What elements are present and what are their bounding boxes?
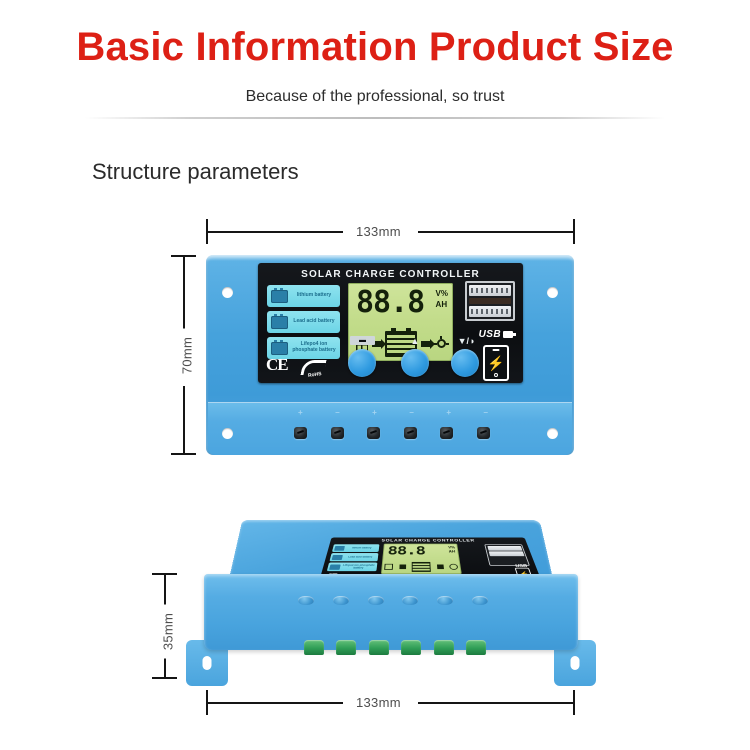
- lcd-units: V% AH: [448, 546, 456, 554]
- terminal-mark: +: [446, 408, 451, 417]
- battery-type-list: lithium battery Lead acid battery Lifepo…: [267, 285, 340, 363]
- angled-width-tick-left: [206, 690, 208, 715]
- front-height-line-bottom: [183, 386, 185, 454]
- front-height-tick-bottom: [171, 453, 196, 455]
- phone-charging-icon: ⚡: [483, 345, 509, 381]
- menu-button-icon: ▬: [350, 336, 375, 345]
- front-width-tick-right: [573, 219, 575, 244]
- terminal-mark: +: [372, 408, 377, 417]
- lcd-unit-bottom: AH: [436, 300, 448, 311]
- front-width-label: 133mm: [352, 224, 405, 239]
- mounting-hole-left: [222, 287, 233, 298]
- arrow-right-icon: [436, 564, 443, 569]
- mounting-hole: [203, 656, 212, 670]
- usb-port-bottom[interactable]: [469, 306, 511, 317]
- controller-front-view: SOLAR CHARGE CONTROLLER lithium battery …: [206, 255, 574, 455]
- battery-type-label: lithium battery: [288, 293, 340, 299]
- mounting-hole-bottom-left: [222, 428, 233, 439]
- ce-mark: CE: [266, 355, 288, 375]
- angled-width-line-right: [418, 702, 574, 704]
- section-heading: Structure parameters: [92, 159, 299, 185]
- down-light-button-icon: ▼/◑: [452, 336, 480, 345]
- menu-button[interactable]: [348, 349, 376, 377]
- terminal-screw[interactable]: [437, 596, 453, 605]
- usb-port-top[interactable]: [487, 546, 522, 551]
- controller-front-face: [204, 574, 578, 650]
- down-light-glyph: ▼/◑: [458, 336, 475, 346]
- mounting-hole-bottom-right: [547, 428, 558, 439]
- front-width-line-right: [418, 231, 574, 233]
- terminal-screw[interactable]: [472, 596, 488, 605]
- angled-width-label: 133mm: [352, 695, 405, 710]
- product-size-infographic: Basic Information Product Size Because o…: [0, 0, 750, 750]
- battery-type-label: lithium battery: [344, 547, 379, 549]
- front-width-tick-left: [206, 219, 208, 244]
- angled-width-tick-right: [573, 690, 575, 715]
- battery-type-label: Lead acid battery: [342, 556, 378, 558]
- mounting-hole-right: [547, 287, 558, 298]
- terminal-block[interactable]: [369, 640, 389, 655]
- front-width-line-left: [206, 231, 343, 233]
- lamp-icon: [434, 336, 449, 352]
- terminal-block[interactable]: [336, 640, 356, 655]
- terminal-screw[interactable]: [440, 427, 453, 439]
- terminal-markings: + – + – + –: [298, 408, 488, 417]
- battery-type-label: Lifepo4 ion phosphate battery: [288, 342, 340, 354]
- usb-ports[interactable]: [484, 544, 530, 566]
- battery-type-label: Lead acid battery: [288, 319, 340, 325]
- header-divider: [85, 117, 665, 119]
- lcd-display: 88.8 V% AH: [381, 544, 462, 574]
- rohs-label: RoHS: [308, 371, 322, 379]
- terminal-screw[interactable]: [331, 427, 344, 439]
- page-title: Basic Information Product Size: [0, 27, 750, 67]
- lamp-icon: [449, 564, 458, 570]
- lcd-flow-diagram: [384, 561, 459, 572]
- down-light-button[interactable]: [451, 349, 479, 377]
- terminal-block[interactable]: [304, 640, 324, 655]
- terminal-screw[interactable]: [333, 596, 349, 605]
- terminal-mark: +: [298, 408, 303, 417]
- up-button-icon: ▲: [404, 336, 426, 345]
- brand-label: SOLAR CHARGE CONTROLLER: [258, 269, 523, 280]
- angled-depth-tick-top: [152, 573, 177, 575]
- battery-type-lead-acid: Lead acid battery: [267, 311, 340, 333]
- lcd-unit-top: V%: [436, 289, 448, 300]
- angled-depth-tick-bottom: [152, 677, 177, 679]
- battery-type-label: Lifepo4 ion phosphate battery: [340, 564, 378, 569]
- front-height-tick-top: [171, 255, 196, 257]
- usb-ports[interactable]: [465, 281, 515, 321]
- front-panel: SOLAR CHARGE CONTROLLER lithium battery …: [258, 263, 523, 383]
- lcd-units: V% AH: [436, 289, 448, 311]
- battery-type-lithium: lithium battery: [332, 544, 379, 552]
- terminal-screw-row: [294, 427, 490, 439]
- ce-label: CE: [266, 355, 288, 374]
- angled-depth-label: 35mm: [161, 605, 176, 659]
- battery-icon: [271, 342, 288, 355]
- brand-label: SOLAR CHARGE CONTROLLER: [330, 539, 526, 542]
- battery-type-lifepo4: Lifepo4 ion phosphate battery: [327, 563, 378, 572]
- mounting-hole: [571, 656, 580, 670]
- terminal-screw[interactable]: [402, 596, 418, 605]
- front-height-line-top: [183, 255, 185, 330]
- lcd-value: 88.8: [356, 288, 424, 318]
- battery-type-lead-acid: Lead acid battery: [329, 553, 378, 561]
- up-button[interactable]: [401, 349, 429, 377]
- terminal-mark: –: [409, 408, 413, 417]
- battery-type-lithium: lithium battery: [267, 285, 340, 307]
- arrow-right-icon: [399, 564, 406, 569]
- terminal-block[interactable]: [466, 640, 486, 655]
- terminal-block-row: [304, 640, 486, 655]
- battery-icon: [412, 562, 431, 572]
- usb-label: USB: [479, 329, 513, 340]
- terminal-screw[interactable]: [298, 596, 314, 605]
- terminal-screw[interactable]: [367, 427, 380, 439]
- lcd-value: 88.8: [387, 545, 425, 556]
- battery-icon: [271, 290, 288, 303]
- terminal-mark: –: [484, 408, 488, 417]
- terminal-screw[interactable]: [368, 596, 384, 605]
- battery-icon: [271, 316, 288, 329]
- controller-body-angled: SOLAR CHARGE CONTROLLER lithium battery …: [186, 500, 596, 690]
- usb-text: USB: [479, 329, 501, 340]
- angled-width-line-left: [206, 702, 343, 704]
- usb-port-bottom[interactable]: [488, 551, 524, 556]
- terminal-block[interactable]: [434, 640, 454, 655]
- usb-port-top[interactable]: [469, 285, 511, 296]
- menu-glyph: ▬: [359, 337, 366, 344]
- rohs-mark: RoHS: [302, 359, 328, 377]
- lcd-unit-bottom: AH: [448, 550, 455, 554]
- page-subtitle: Because of the professional, so trust: [0, 88, 750, 106]
- solar-panel-icon: [384, 564, 393, 570]
- usb-plug-icon: [503, 331, 513, 338]
- front-height-label: 70mm: [180, 329, 195, 383]
- terminal-block[interactable]: [401, 640, 421, 655]
- terminal-screw-row-angled: [298, 596, 488, 605]
- battery-type-list: lithium battery Lead acid battery Lifepo…: [326, 544, 379, 572]
- up-glyph: ▲: [411, 336, 420, 346]
- terminal-screw[interactable]: [294, 427, 307, 439]
- controller-angled-view: SOLAR CHARGE CONTROLLER lithium battery …: [186, 500, 596, 690]
- terminal-mark: –: [335, 408, 339, 417]
- usb-divider: [469, 298, 511, 304]
- terminal-screw[interactable]: [477, 427, 490, 439]
- terminal-screw[interactable]: [404, 427, 417, 439]
